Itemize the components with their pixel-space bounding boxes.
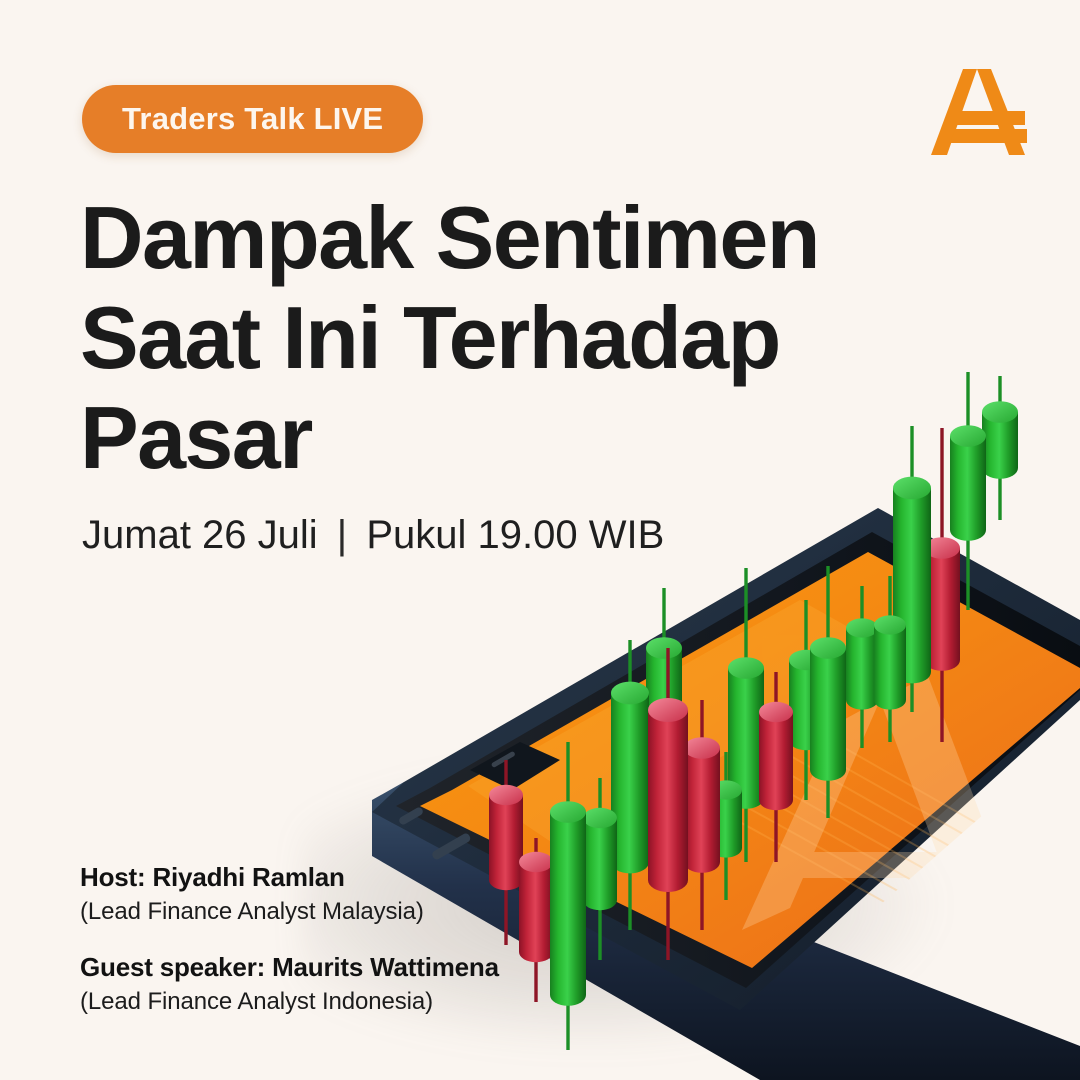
event-time: Pukul 19.00 WIB bbox=[366, 513, 664, 557]
candle-body bbox=[846, 628, 878, 710]
headline-line-1: Dampak Sentimen bbox=[80, 188, 820, 288]
candle-top-cap bbox=[874, 615, 906, 634]
candle-top-cap bbox=[846, 618, 878, 637]
brand-logo bbox=[925, 55, 1035, 165]
poster-canvas: Traders Talk LIVE Dampak Sentimen Saat I… bbox=[0, 0, 1080, 1080]
guest-role: (Lead Finance Analyst Indonesia) bbox=[80, 988, 499, 1016]
candle-body bbox=[759, 712, 793, 810]
candle-top-cap bbox=[982, 401, 1018, 423]
candle-top-cap bbox=[489, 785, 523, 805]
live-badge-label: Traders Talk LIVE bbox=[122, 101, 383, 137]
credit-guest: Guest speaker: Maurits Wattimena (Lead F… bbox=[80, 952, 499, 1016]
candle-body bbox=[874, 625, 906, 710]
austral-a-logo-mark bbox=[931, 69, 1027, 155]
credit-host: Host: Riyadhi Ramlan (Lead Finance Analy… bbox=[80, 862, 499, 926]
candle-top-cap bbox=[648, 698, 688, 722]
candle-top-cap bbox=[684, 737, 720, 759]
page-title: Dampak Sentimen Saat Ini Terhadap Pasar bbox=[80, 188, 820, 488]
candle-top-cap bbox=[611, 682, 649, 705]
event-date: Jumat 26 Juli bbox=[82, 513, 318, 557]
candle-top-cap bbox=[646, 637, 682, 659]
speaker-credits: Host: Riyadhi Ramlan (Lead Finance Analy… bbox=[80, 862, 499, 1042]
candle-body bbox=[550, 812, 586, 1006]
candlestick-19-up bbox=[982, 376, 1018, 520]
candle-body bbox=[648, 710, 688, 892]
candle-top-cap bbox=[759, 702, 793, 722]
host-role: (Lead Finance Analyst Malaysia) bbox=[80, 898, 499, 926]
host-name: Host: Riyadhi Ramlan bbox=[80, 862, 499, 893]
live-badge[interactable]: Traders Talk LIVE bbox=[82, 85, 423, 153]
headline-line-3: Pasar bbox=[80, 388, 820, 488]
candle-body bbox=[684, 748, 720, 873]
candle-top-cap bbox=[583, 808, 617, 828]
candle-top-cap bbox=[519, 852, 553, 872]
candle-top-cap bbox=[550, 801, 586, 823]
candle-body bbox=[519, 862, 553, 962]
candle-body bbox=[583, 818, 617, 910]
guest-name: Guest speaker: Maurits Wattimena bbox=[80, 952, 499, 983]
event-datetime: Jumat 26 Juli | Pukul 19.00 WIB bbox=[82, 513, 664, 558]
candle-top-cap bbox=[893, 477, 931, 500]
candlestick-2-down bbox=[519, 838, 553, 1002]
headline-line-2: Saat Ini Terhadap bbox=[80, 288, 820, 388]
datetime-separator: | bbox=[329, 513, 355, 557]
candle-top-cap bbox=[728, 657, 764, 679]
candle-body bbox=[810, 648, 846, 781]
candle-top-cap bbox=[950, 425, 986, 447]
candle-body bbox=[950, 436, 986, 541]
candle-top-cap bbox=[810, 637, 846, 659]
